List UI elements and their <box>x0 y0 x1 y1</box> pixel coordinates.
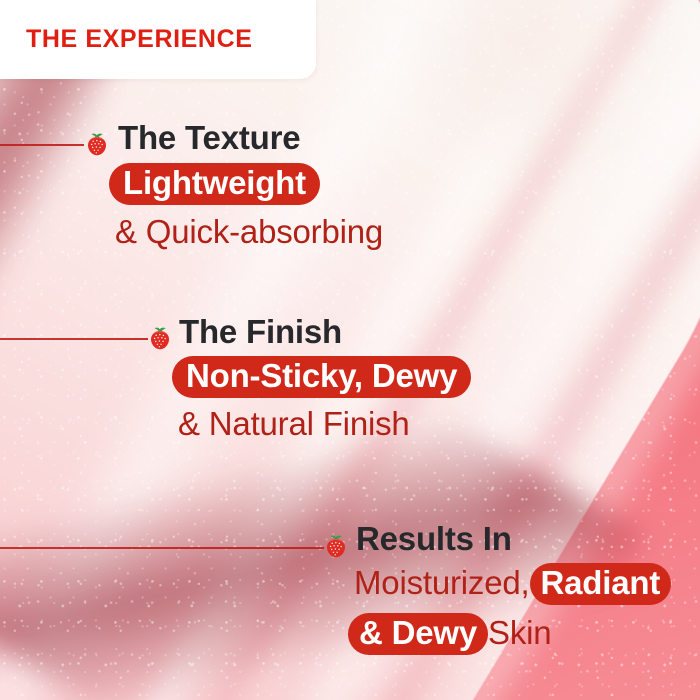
feature-heading: The Finish <box>179 315 471 348</box>
feature-heading: The Texture <box>118 121 383 154</box>
header-card: THE EXPERIENCE <box>0 0 316 79</box>
feature-highlight-pill: Lightweight <box>109 163 320 205</box>
feature-subtext: Skin <box>488 614 551 651</box>
feature-highlight-pill: & Dewy <box>348 613 488 655</box>
feature-highlight-pill: Radiant <box>530 563 672 605</box>
strawberry-icon <box>324 533 348 559</box>
page-title: THE EXPERIENCE <box>26 25 253 54</box>
leader-line-results <box>0 547 324 549</box>
feature-subtext: & Natural Finish <box>178 407 471 440</box>
feature-subtext: & Quick-absorbing <box>115 215 383 248</box>
feature-heading: Results In <box>356 522 671 555</box>
experience-infographic: THE EXPERIENCE <box>0 0 700 700</box>
feature-subtext: Moisturized, <box>354 564 530 601</box>
feature-block-finish: The Finish Non-Sticky, Dewy & Natural Fi… <box>175 315 471 440</box>
feature-results-line-3: & DewySkin <box>348 613 671 655</box>
leader-line-finish <box>0 338 148 340</box>
feature-block-texture: The Texture Lightweight & Quick-absorbin… <box>113 121 383 248</box>
strawberry-icon <box>148 325 172 351</box>
strawberry-icon <box>85 131 109 157</box>
feature-pill-row: Lightweight <box>109 163 383 205</box>
leader-line-texture <box>0 144 84 146</box>
feature-results-line-2: Moisturized,Radiant <box>354 563 671 605</box>
feature-highlight-pill: Non-Sticky, Dewy <box>172 356 471 398</box>
feature-pill-row: Non-Sticky, Dewy <box>172 356 471 398</box>
feature-block-results: Results In Moisturized,Radiant & DewySki… <box>352 522 671 655</box>
